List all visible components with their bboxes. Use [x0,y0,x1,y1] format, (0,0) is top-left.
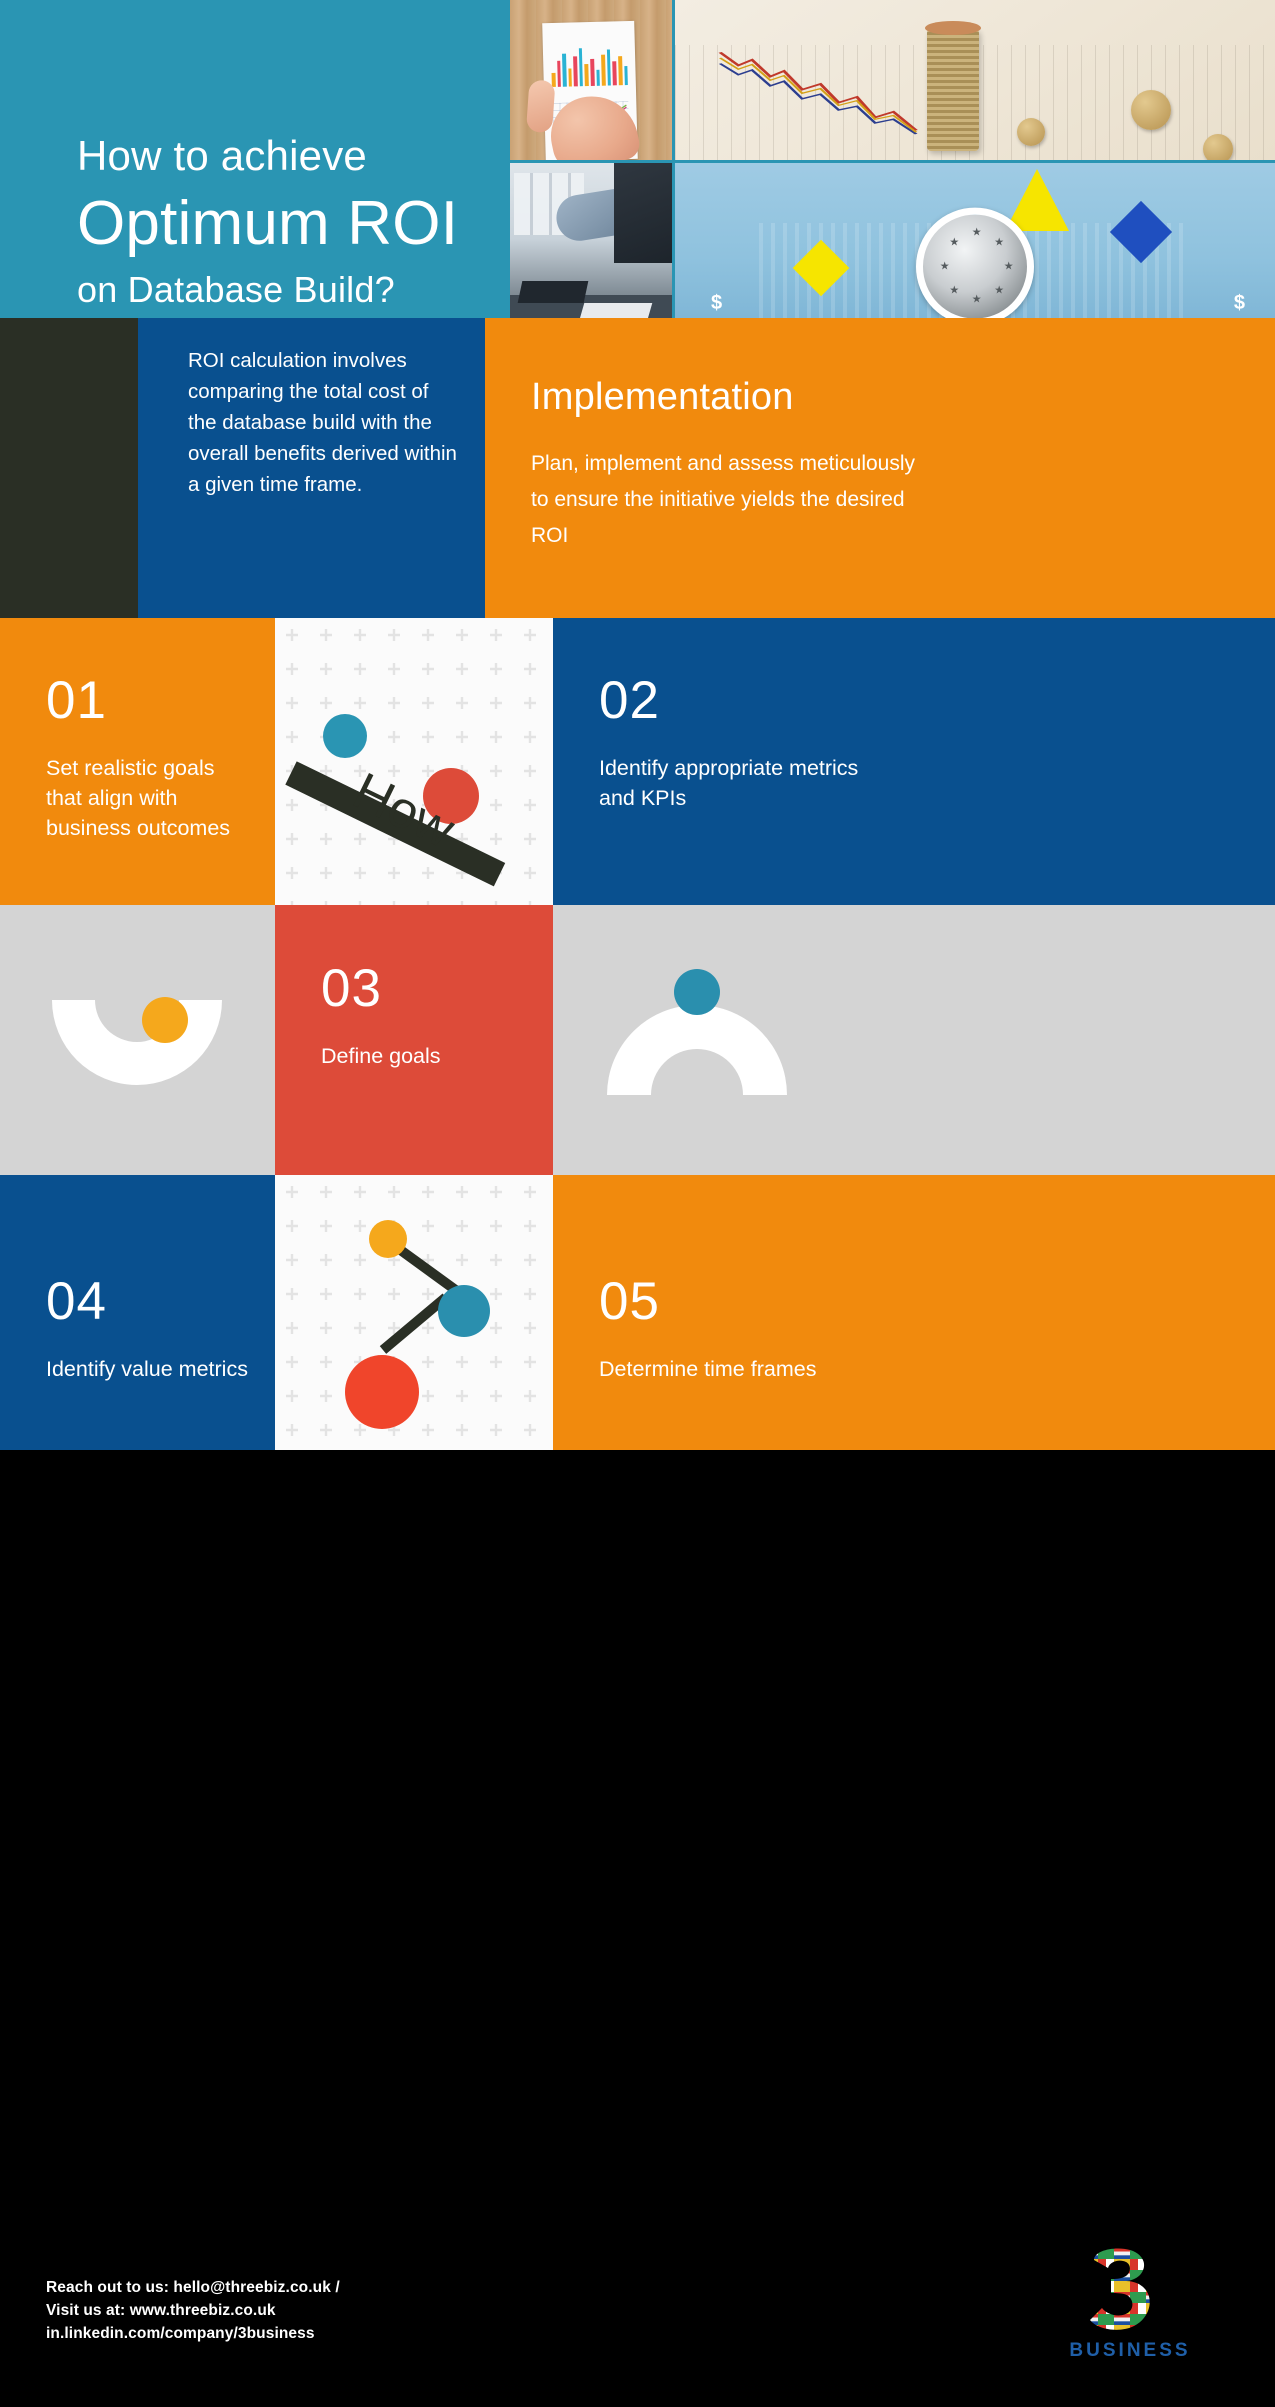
connector-red-dot-icon [345,1355,419,1429]
olive-accent-block [0,318,138,618]
footer-website-line[interactable]: Visit us at: www.threebiz.co.uk [46,2299,340,2322]
step-text-03: Define goals [321,1041,531,1071]
logo-numeral-three-icon [1082,2248,1178,2334]
dollar-symbol-right: $ [1234,292,1245,315]
step-text-04: Identify value metrics [46,1354,271,1384]
footer-email-line[interactable]: Reach out to us: hello@threebiz.co.uk / [46,2276,340,2299]
step-card-04: 04 Identify value metrics [0,1175,275,1450]
yellow-dot-icon [142,997,188,1043]
header-photo-collage: ★ ★ ★ ★ ★ ★ ★ ★ $ $ [510,0,1275,318]
step-text-05: Determine time frames [599,1354,899,1384]
step-number-04: 04 [46,1275,271,1328]
implementation-heading: Implementation [531,376,794,419]
step-number-03: 03 [321,962,531,1015]
connector-yellow-dot-icon [369,1220,407,1258]
roi-definition-text: ROI calculation involves comparing the t… [188,345,458,500]
title-line-1: How to achieve [77,128,507,184]
step-number-01: 01 [46,674,246,727]
coin-stack-photo [675,0,1275,160]
intro-row: ROI calculation involves comparing the t… [0,318,1275,618]
header-banner: How to achieve Optimum ROI on Database B… [0,0,1275,318]
step-card-02: 02 Identify appropriate metrics and KPIs [553,618,1275,905]
step-number-05: 05 [599,1275,899,1328]
handshake-office-photo [510,163,672,321]
dome-arc-card [553,905,1275,1175]
plus-dot-grid [275,618,553,905]
company-logo: BUSINESS [1060,2248,1200,2362]
step-card-03: 03 Define goals [275,905,553,1175]
logo-wordmark: BUSINESS [1060,2340,1200,2362]
implementation-block: Implementation Plan, implement and asses… [485,318,1275,618]
step-text-02: Identify appropriate metrics and KPIs [599,753,859,813]
title-line-3: on Database Build? [77,264,507,316]
footer-contact-block: Reach out to us: hello@threebiz.co.uk / … [46,2276,340,2345]
connector-dots-card [275,1175,553,1450]
how-seesaw-card: How [275,618,553,905]
connector-teal-dot-icon [438,1285,490,1337]
step-card-05: 05 Determine time frames [553,1175,1275,1450]
footer-linkedin-line[interactable]: in.linkedin.com/company/3business [46,2322,340,2345]
seesaw-teal-dot-icon [323,714,367,758]
roi-definition-block: ROI calculation involves comparing the t… [138,318,485,618]
euro-coin-photo: ★ ★ ★ ★ ★ ★ ★ ★ $ $ [675,163,1275,321]
step-text-01: Set realistic goals that align with busi… [46,753,246,843]
teal-dot-icon [674,969,720,1015]
page-title: How to achieve Optimum ROI on Database B… [77,128,507,316]
implementation-text: Plan, implement and assess meticulously … [531,446,923,554]
step-card-01: 01 Set realistic goals that align with b… [0,618,275,905]
title-line-2: Optimum ROI [77,184,507,264]
bowl-arc-card [0,905,275,1175]
bar-chart-report-photo [510,0,672,160]
step-number-02: 02 [599,674,859,727]
dollar-symbol-left: $ [711,292,722,315]
